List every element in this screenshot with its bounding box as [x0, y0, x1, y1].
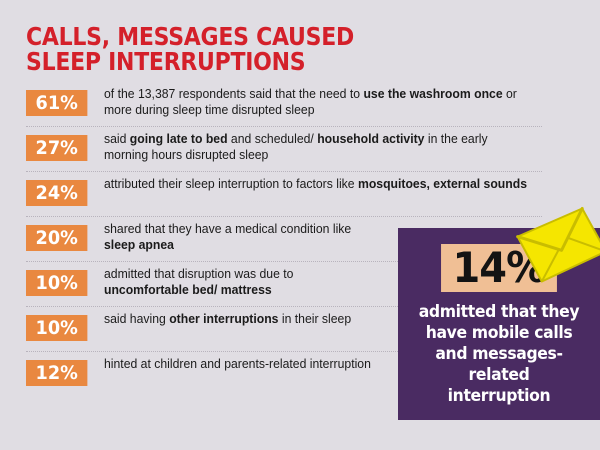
body-text: shared that they have a medical conditio… — [104, 222, 351, 236]
percent-badge: 10% — [26, 270, 87, 296]
highlight-text: going late to bed — [130, 132, 228, 146]
statistic-description: said going late to bed and scheduled/ ho… — [104, 131, 529, 163]
statistic-description: shared that they have a medical conditio… — [104, 221, 378, 253]
statistic-description: admitted that disruption was due to unco… — [104, 266, 378, 298]
callout-description: admitted that they have mobile calls and… — [415, 302, 582, 407]
title-line-1: CALLS, MESSAGES CAUSED — [26, 24, 404, 49]
body-text: said having — [104, 312, 169, 326]
body-text: and scheduled/ — [228, 132, 318, 146]
highlight-text: use the washroom once — [363, 87, 502, 101]
statistic-description: of the 13,387 respondents said that the … — [104, 86, 529, 118]
statistic-row: 24%attributed their sleep interruption t… — [26, 176, 542, 217]
mobile-calls-callout: 14% admitted that they have mobile calls… — [398, 228, 600, 420]
highlight-text: mosquitoes, external sounds — [358, 177, 527, 191]
percent-badge: 20% — [26, 225, 87, 251]
callout-percent-badge: 14% — [441, 244, 556, 292]
body-text: hinted at children and parents-related i… — [104, 357, 371, 371]
highlight-text: household activity — [317, 132, 424, 146]
percent-badge: 10% — [26, 315, 87, 341]
statistic-description: hinted at children and parents-related i… — [104, 356, 378, 372]
statistic-row: 61%of the 13,387 respondents said that t… — [26, 86, 542, 127]
statistic-description: said having other interruptions in their… — [104, 311, 378, 327]
statistic-description: attributed their sleep interruption to f… — [104, 176, 529, 192]
body-text: in their sleep — [278, 312, 351, 326]
highlight-text: uncomfortable bed/ mattress — [104, 283, 272, 297]
statistic-row: 27%said going late to bed and scheduled/… — [26, 131, 542, 172]
page-title: CALLS, MESSAGES CAUSED SLEEP INTERRUPTIO… — [26, 24, 456, 74]
highlight-text: other interruptions — [169, 312, 278, 326]
percent-badge: 27% — [26, 135, 87, 161]
percent-badge: 12% — [26, 360, 87, 386]
body-text: of the 13,387 respondents said that the … — [104, 87, 363, 101]
infographic-root: CALLS, MESSAGES CAUSED SLEEP INTERRUPTIO… — [0, 0, 600, 450]
body-text: said — [104, 132, 130, 146]
body-text: admitted that disruption was due to — [104, 267, 293, 281]
percent-badge: 61% — [26, 90, 87, 116]
highlight-text: sleep apnea — [104, 238, 174, 252]
body-text: attributed their sleep interruption to f… — [104, 177, 358, 191]
percent-badge: 24% — [26, 180, 87, 206]
title-line-2: SLEEP INTERRUPTIONS — [26, 49, 404, 74]
